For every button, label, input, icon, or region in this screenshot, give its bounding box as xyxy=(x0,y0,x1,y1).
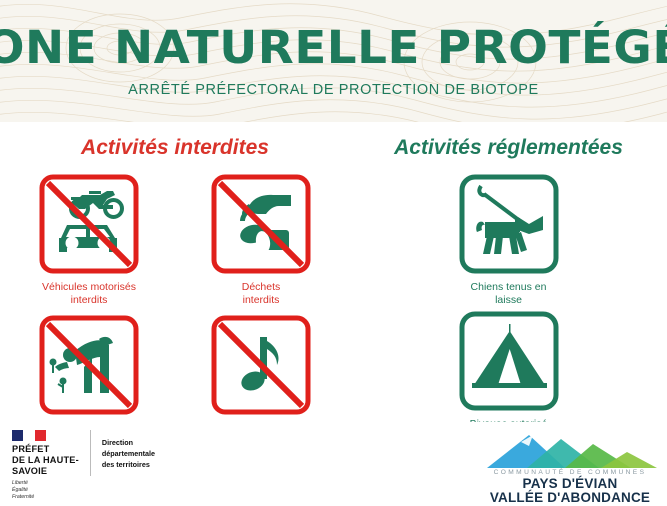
prefecture-block: PRÉFET DE LA HAUTE- SAVOIE Liberté Égali… xyxy=(12,430,79,501)
pictogram-caption: Chiens tenus en laisse xyxy=(471,281,547,307)
prefecture-service: Direction départementale des territoires xyxy=(102,437,155,470)
french-flag-icon xyxy=(12,430,46,441)
page-title: ZONE NATURELLE PROTÉGÉE xyxy=(0,25,667,70)
poster-footer: PRÉFET DE LA HAUTE- SAVOIE Liberté Égali… xyxy=(0,422,667,500)
page-subtitle: ARRÊTÉ PRÉFECTORAL DE PROTECTION DE BIOT… xyxy=(128,82,539,98)
section-heading-forbidden: Activités interdites xyxy=(0,122,350,160)
motor-vehicles-prohibited-icon xyxy=(37,172,141,276)
community-text: COMMUNAUTÉ DE COMMUNES PAYS D'ÉVIAN VALL… xyxy=(481,469,659,506)
community-kicker: COMMUNAUTÉ DE COMMUNES xyxy=(481,469,659,476)
regulated-pictogram-grid: Chiens tenus en laisse Bivouac autorisé … xyxy=(350,172,667,447)
community-name: PAYS D'ÉVIAN VALLÉE D'ABONDANCE xyxy=(481,477,659,506)
litter-prohibited-icon xyxy=(209,172,313,276)
republic-motto: Liberté Égalité Fraternité xyxy=(12,480,79,501)
footer-divider xyxy=(90,430,91,476)
section-regulated: Activités réglementées xyxy=(350,122,667,447)
forbidden-pictogram-grid: Véhicules motorisés interdits xyxy=(0,172,350,455)
poster-main: Activités interdites xyxy=(0,122,667,422)
pictogram-dog-on-leash: Chiens tenus en laisse xyxy=(424,172,594,307)
pictogram-caption: Véhicules motorisés interdits xyxy=(42,281,136,307)
poster: ZONE NATURELLE PROTÉGÉE ARRÊTÉ PRÉFECTOR… xyxy=(0,0,667,500)
pictogram-litter: Déchets interdits xyxy=(188,172,334,307)
section-forbidden: Activités interdites xyxy=(0,122,350,455)
pictogram-caption: Déchets interdits xyxy=(242,281,281,307)
poster-header: ZONE NATURELLE PROTÉGÉE ARRÊTÉ PRÉFECTOR… xyxy=(0,0,667,122)
noise-prohibited-icon xyxy=(209,313,313,417)
prefecture-logo: PRÉFET DE LA HAUTE- SAVOIE Liberté Égali… xyxy=(12,430,155,501)
flower-picking-prohibited-icon xyxy=(37,313,141,417)
mountain-logo-icon xyxy=(481,430,659,470)
dog-on-leash-icon xyxy=(457,172,561,276)
section-heading-regulated: Activités réglementées xyxy=(350,122,667,160)
tent-bivouac-icon xyxy=(457,309,561,413)
community-logo: COMMUNAUTÉ DE COMMUNES PAYS D'ÉVIAN VALL… xyxy=(481,430,659,506)
pictogram-motor-vehicles: Véhicules motorisés interdits xyxy=(16,172,162,307)
prefecture-name: PRÉFET DE LA HAUTE- SAVOIE xyxy=(12,444,79,477)
